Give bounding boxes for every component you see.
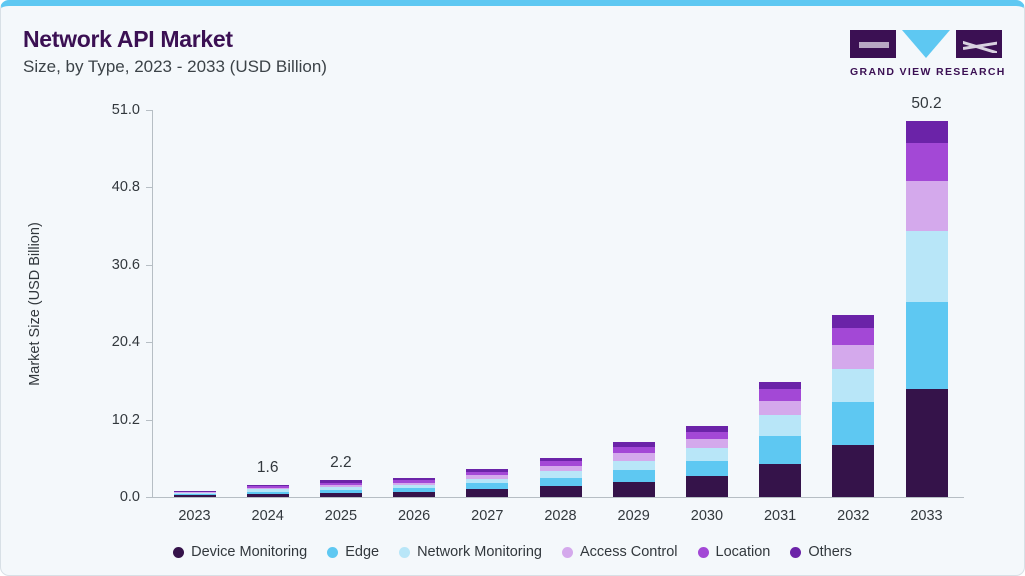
bar-segment[interactable] <box>613 453 655 461</box>
bar-segment[interactable] <box>832 328 874 345</box>
y-axis-tick-label: 30.6 <box>92 257 140 273</box>
stacked-bar[interactable] <box>320 480 362 497</box>
y-axis-line <box>152 110 153 497</box>
bar-segment[interactable] <box>832 369 874 402</box>
bar-segment[interactable] <box>906 121 948 144</box>
legend-label: Others <box>808 544 852 560</box>
x-axis-line <box>152 497 964 498</box>
stacked-bar[interactable] <box>540 458 582 497</box>
legend-item-network-monitoring[interactable]: Network Monitoring <box>399 544 542 560</box>
y-axis-tick-mark <box>146 420 152 421</box>
legend-label: Network Monitoring <box>417 544 542 560</box>
bar-segment[interactable] <box>832 315 874 328</box>
legend-label: Location <box>716 544 771 560</box>
bar-segment[interactable] <box>906 302 948 389</box>
bar-segment[interactable] <box>759 415 801 436</box>
y-axis-tick-label: 20.4 <box>92 334 140 350</box>
y-axis-tick-label: 0.0 <box>92 489 140 505</box>
y-axis-tick-mark <box>146 110 152 111</box>
y-axis-tick-label: 40.8 <box>92 179 140 195</box>
bar-segment[interactable] <box>759 401 801 415</box>
bar-segment[interactable] <box>906 231 948 302</box>
bar-segment[interactable] <box>906 181 948 230</box>
legend-item-location[interactable]: Location <box>698 544 771 560</box>
y-axis-title: Market Size (USD Billion) <box>27 174 43 434</box>
bar-segment[interactable] <box>832 445 874 497</box>
legend-label: Access Control <box>580 544 678 560</box>
bar-segment[interactable] <box>540 486 582 497</box>
bar-segment[interactable] <box>759 464 801 497</box>
bar-segment[interactable] <box>906 143 948 181</box>
legend-item-device-monitoring[interactable]: Device Monitoring <box>173 544 307 560</box>
legend-item-others[interactable]: Others <box>790 544 852 560</box>
bar-segment[interactable] <box>686 461 728 477</box>
legend-label: Device Monitoring <box>191 544 307 560</box>
stacked-bar[interactable] <box>906 121 948 497</box>
bar-segment[interactable] <box>466 489 508 497</box>
bar-segment[interactable] <box>613 470 655 481</box>
bar-segment[interactable] <box>759 389 801 400</box>
bar-segment[interactable] <box>393 492 435 497</box>
bar-segment[interactable] <box>613 482 655 497</box>
bar-segment[interactable] <box>686 439 728 448</box>
legend-swatch-icon <box>399 547 410 558</box>
y-axis-tick-label: 10.2 <box>92 412 140 428</box>
bar-segment[interactable] <box>540 478 582 486</box>
stacked-bar[interactable] <box>613 442 655 497</box>
bar-segment[interactable] <box>759 436 801 463</box>
y-axis-tick-mark <box>146 187 152 188</box>
bar-segment[interactable] <box>832 345 874 369</box>
y-axis-tick-mark <box>146 342 152 343</box>
chart-legend: Device MonitoringEdgeNetwork MonitoringA… <box>1 544 1024 560</box>
stacked-bar[interactable] <box>247 485 289 497</box>
bar-segment[interactable] <box>759 382 801 390</box>
stacked-bar[interactable] <box>759 382 801 497</box>
x-axis-tick-label: 2033 <box>867 508 987 524</box>
bar-segment[interactable] <box>832 402 874 444</box>
stacked-bar[interactable] <box>686 426 728 497</box>
bar-chart-plot: Market Size (USD Billion) 0.010.220.430.… <box>1 6 1025 576</box>
y-axis-tick-mark <box>146 497 152 498</box>
bar-segment[interactable] <box>540 471 582 478</box>
chart-card: Network API Market Size, by Type, 2023 -… <box>0 0 1025 576</box>
bar-value-label: 50.2 <box>867 95 987 113</box>
bar-segment[interactable] <box>613 461 655 471</box>
stacked-bar[interactable] <box>174 491 216 497</box>
legend-swatch-icon <box>327 547 338 558</box>
legend-item-access-control[interactable]: Access Control <box>562 544 678 560</box>
legend-swatch-icon <box>562 547 573 558</box>
bar-value-label: 2.2 <box>281 454 401 472</box>
bar-segment[interactable] <box>686 448 728 461</box>
legend-swatch-icon <box>698 547 709 558</box>
legend-item-edge[interactable]: Edge <box>327 544 379 560</box>
bar-segment[interactable] <box>247 494 289 497</box>
bar-segment[interactable] <box>174 495 216 497</box>
legend-swatch-icon <box>173 547 184 558</box>
bar-segment[interactable] <box>906 389 948 497</box>
y-axis-tick-label: 51.0 <box>92 102 140 118</box>
stacked-bar[interactable] <box>832 315 874 497</box>
bar-segment[interactable] <box>320 493 362 497</box>
stacked-bar[interactable] <box>466 469 508 497</box>
y-axis-tick-mark <box>146 265 152 266</box>
legend-label: Edge <box>345 544 379 560</box>
bar-segment[interactable] <box>686 432 728 439</box>
bar-segment[interactable] <box>686 476 728 496</box>
legend-swatch-icon <box>790 547 801 558</box>
stacked-bar[interactable] <box>393 478 435 497</box>
